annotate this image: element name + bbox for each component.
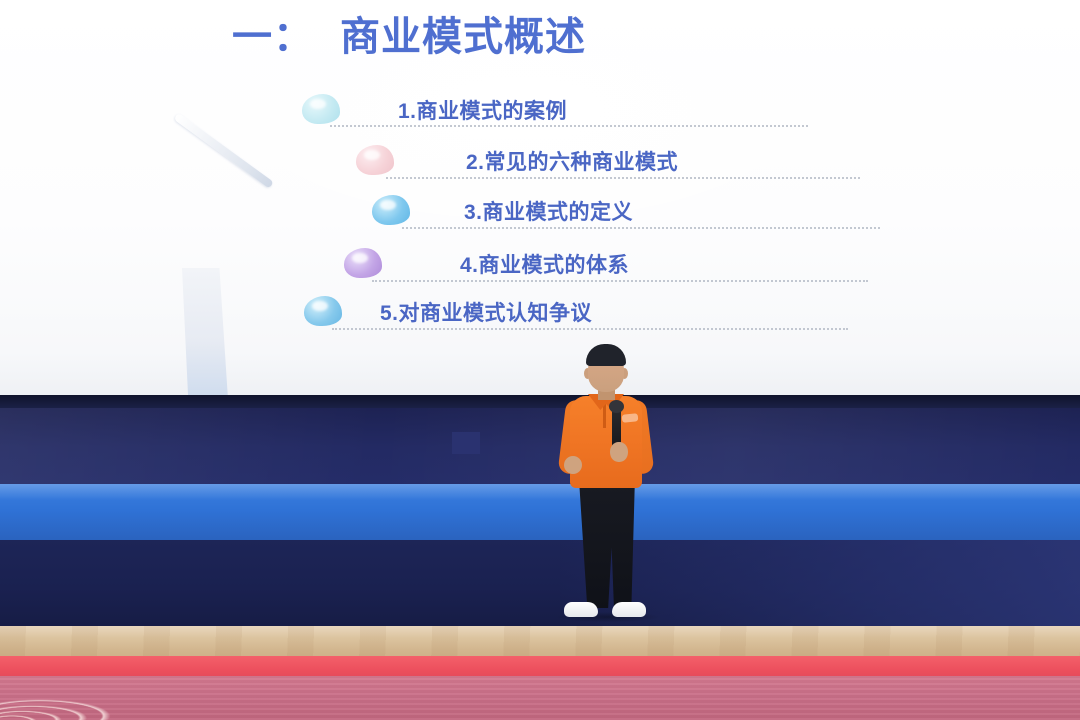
- projection-screen: 一：商业模式概述 1.商业模式的案例 2.常见的六种商业模式 3.商业模式的定义: [0, 0, 1080, 400]
- wind-turbine-icon: [170, 100, 300, 350]
- speaker-right-hand: [610, 442, 628, 462]
- list-item-underline: [402, 227, 880, 229]
- speaker-right-shoe: [612, 602, 646, 617]
- microphone-head-icon: [609, 400, 624, 413]
- speaker-trousers: [578, 482, 636, 608]
- slide-title-text: 商业模式概述: [340, 15, 586, 59]
- list-item-underline: [332, 328, 848, 330]
- speaker-left-shoe: [564, 602, 598, 617]
- list-item-underline: [386, 177, 860, 179]
- slide-title: 一：商业模式概述: [232, 4, 586, 62]
- list-item-label: 1.商业模式的案例: [398, 95, 567, 125]
- blob-bullet-icon: [304, 296, 342, 326]
- blob-bullet-icon: [356, 145, 394, 175]
- speaker-hair: [586, 344, 626, 366]
- speaker-polo-shirt: [570, 396, 642, 488]
- list-item-label: 3.商业模式的定义: [464, 196, 633, 226]
- carpet-motif: [0, 672, 220, 720]
- blob-bullet-icon: [344, 248, 382, 278]
- list-item-underline: [330, 125, 808, 127]
- list-item-label: 5.对商业模式认知争议: [380, 297, 592, 327]
- list-item-label: 4.商业模式的体系: [460, 249, 629, 279]
- slide-title-numeral: 一：: [232, 15, 314, 59]
- turbine-blade-icon: [174, 113, 274, 189]
- blob-bullet-icon: [372, 195, 410, 225]
- speaker-shirt-placket: [603, 404, 606, 428]
- speaker-figure: [540, 344, 670, 648]
- blob-bullet-icon: [302, 94, 340, 124]
- wall-panel: [452, 432, 480, 454]
- speaker-left-hand: [564, 456, 582, 474]
- speaker-shirt-logo: [622, 413, 639, 423]
- list-item-underline: [372, 280, 868, 282]
- list-item-label: 2.常见的六种商业模式: [466, 146, 678, 176]
- presentation-photo: 一：商业模式概述 1.商业模式的案例 2.常见的六种商业模式 3.商业模式的定义: [0, 0, 1080, 720]
